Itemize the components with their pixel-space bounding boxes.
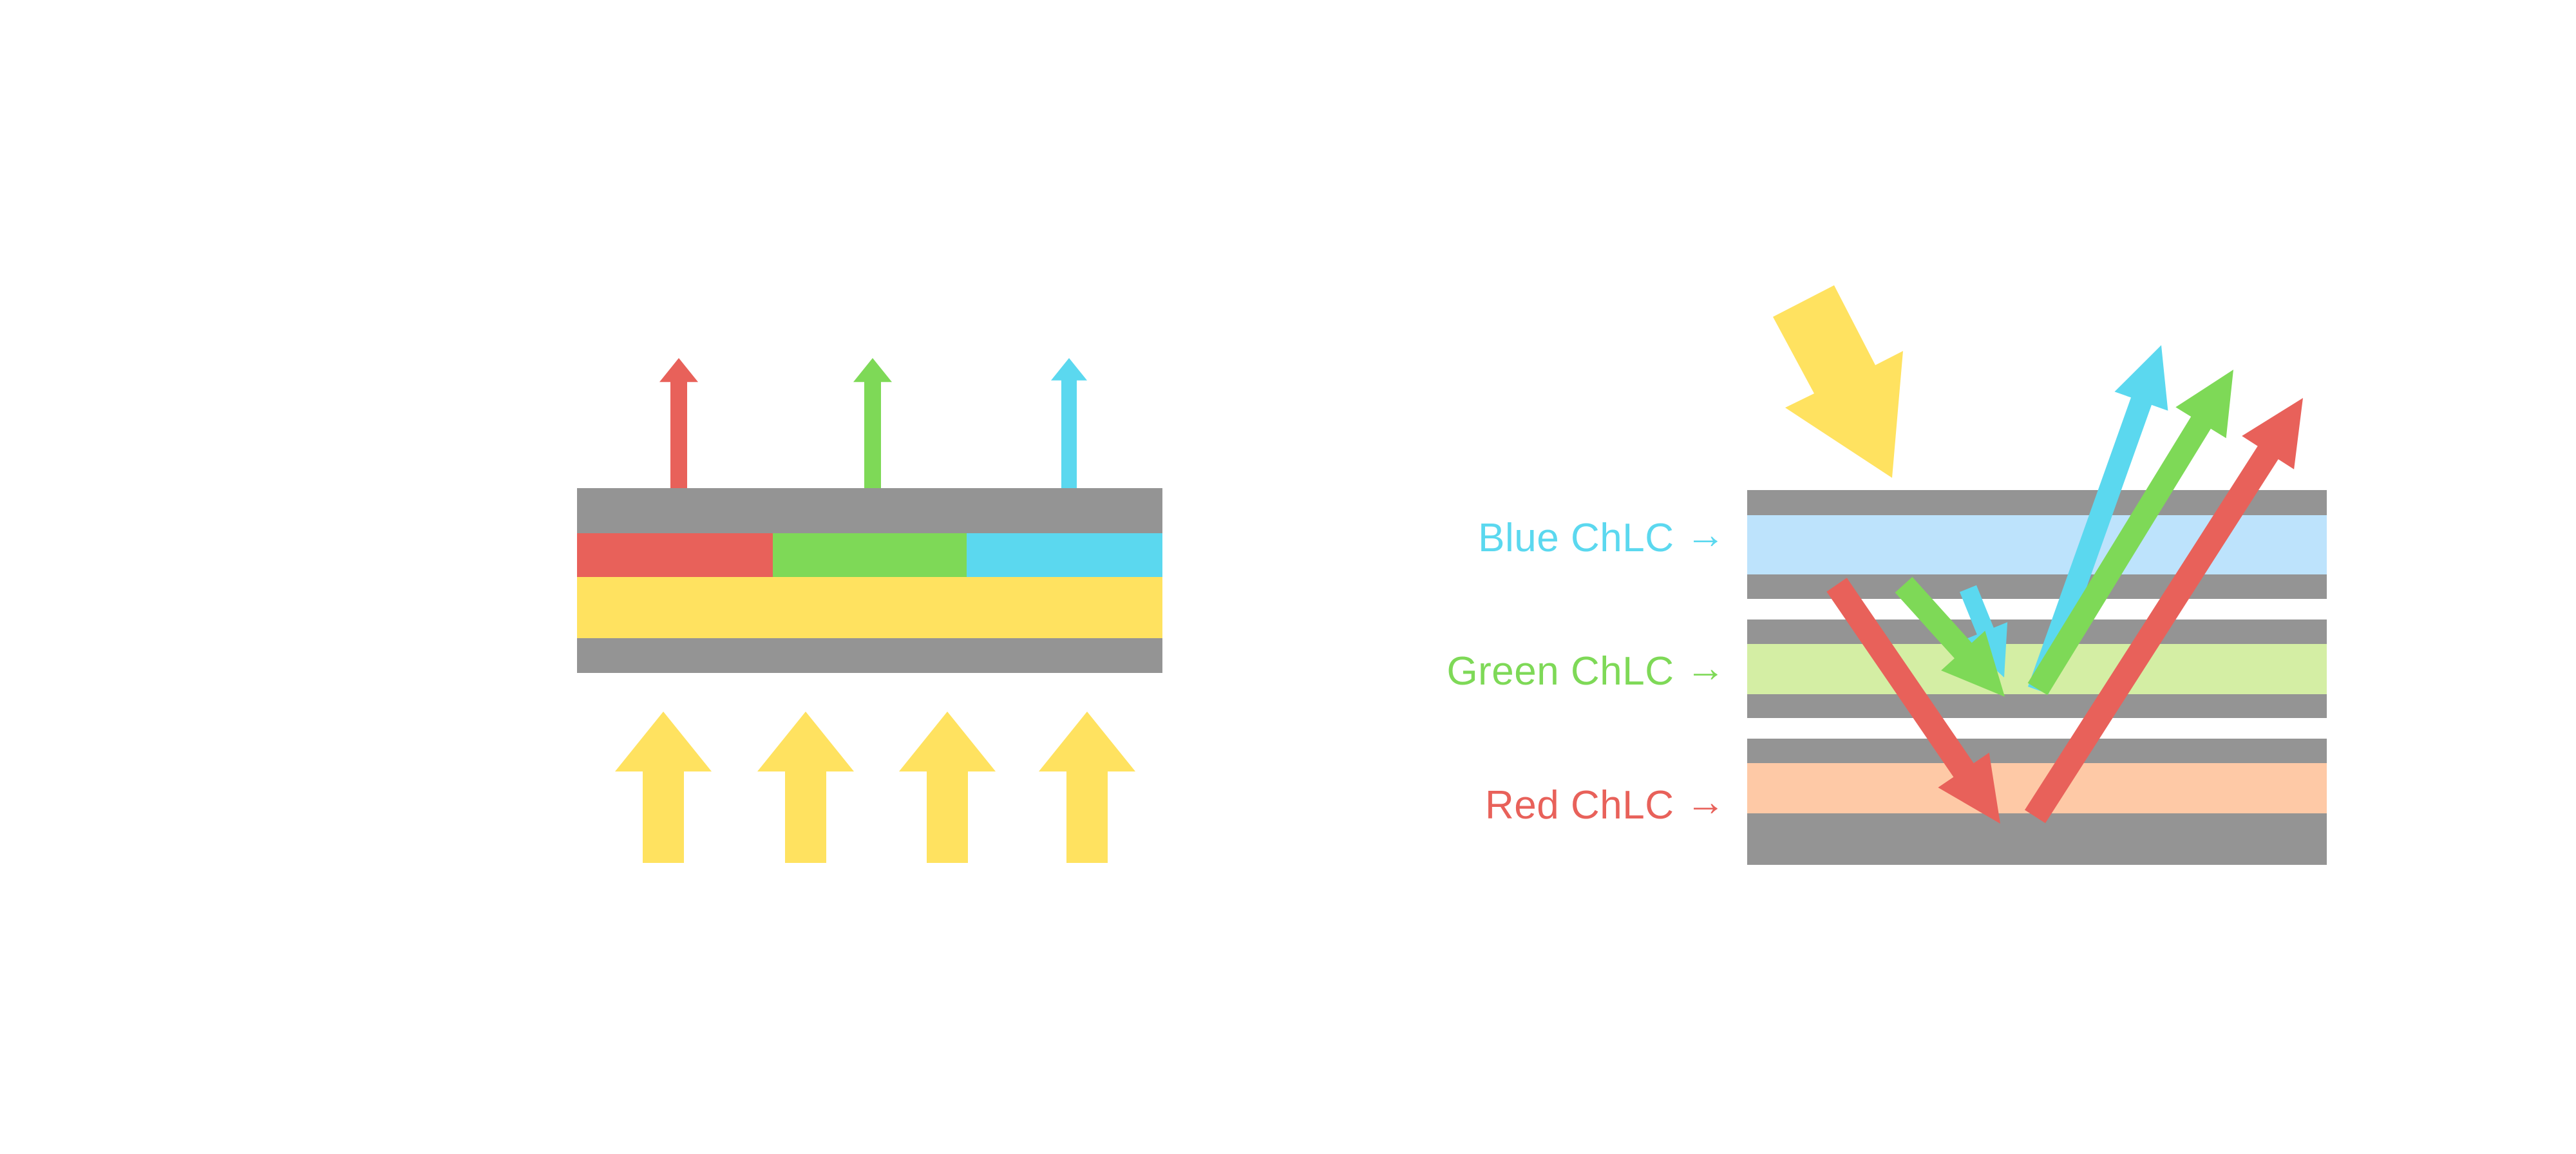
- gray-band-3: [1747, 620, 2327, 644]
- backlight-arrow-4: [1039, 712, 1135, 863]
- backlight-arrow-group: [615, 712, 1135, 863]
- red-filter: [577, 533, 773, 577]
- green-chlc-label-text: Green ChLC: [1446, 652, 1674, 692]
- blue-chlc-label: Blue ChLC→: [1436, 515, 1726, 558]
- diagram-canvas: Blue ChLC→ Green ChLC→ Red ChLC→: [0, 0, 2576, 1154]
- top-electrode: [577, 488, 1162, 533]
- chlc-display-diagram: [0, 0, 2576, 1154]
- blue-filter: [967, 533, 1162, 577]
- blue-chlc-label-text: Blue ChLC: [1478, 518, 1674, 558]
- blue-chlc-layer: [1747, 515, 2327, 574]
- green-output-ray-arrow: [853, 358, 892, 509]
- red-chlc-label: Red ChLC→: [1436, 782, 1726, 826]
- backlight-arrow-3: [899, 712, 996, 863]
- backlight-layer: [577, 577, 1162, 638]
- green-filter: [773, 533, 967, 577]
- blue-output-ray-arrow: [1051, 358, 1087, 509]
- gap-2: [1747, 718, 2327, 739]
- red-output-ray-arrow: [659, 358, 698, 509]
- output-arrow-group: [659, 358, 1087, 509]
- green-chlc-label: Green ChLC→: [1404, 648, 1726, 692]
- red-chlc-label-arrow-icon: →: [1686, 782, 1727, 822]
- left-layer-stack: [577, 488, 1162, 673]
- red-chlc-label-text: Red ChLC: [1485, 786, 1674, 826]
- backlight-arrow-1: [615, 712, 712, 863]
- gray-band-5: [1747, 739, 2327, 763]
- white-light-incident-ray-arrow: [1773, 285, 1903, 478]
- chlc-reflective-stack: [1747, 285, 2327, 865]
- blue-chlc-label-arrow-icon: →: [1686, 515, 1727, 555]
- backlight-arrow-2: [757, 712, 854, 863]
- green-chlc-label-arrow-icon: →: [1686, 648, 1727, 688]
- gray-band-4: [1747, 694, 2327, 718]
- emissive-rgb-backlight-stack: [577, 358, 1162, 863]
- gray-band-6: [1747, 813, 2327, 865]
- bottom-electrode: [577, 638, 1162, 673]
